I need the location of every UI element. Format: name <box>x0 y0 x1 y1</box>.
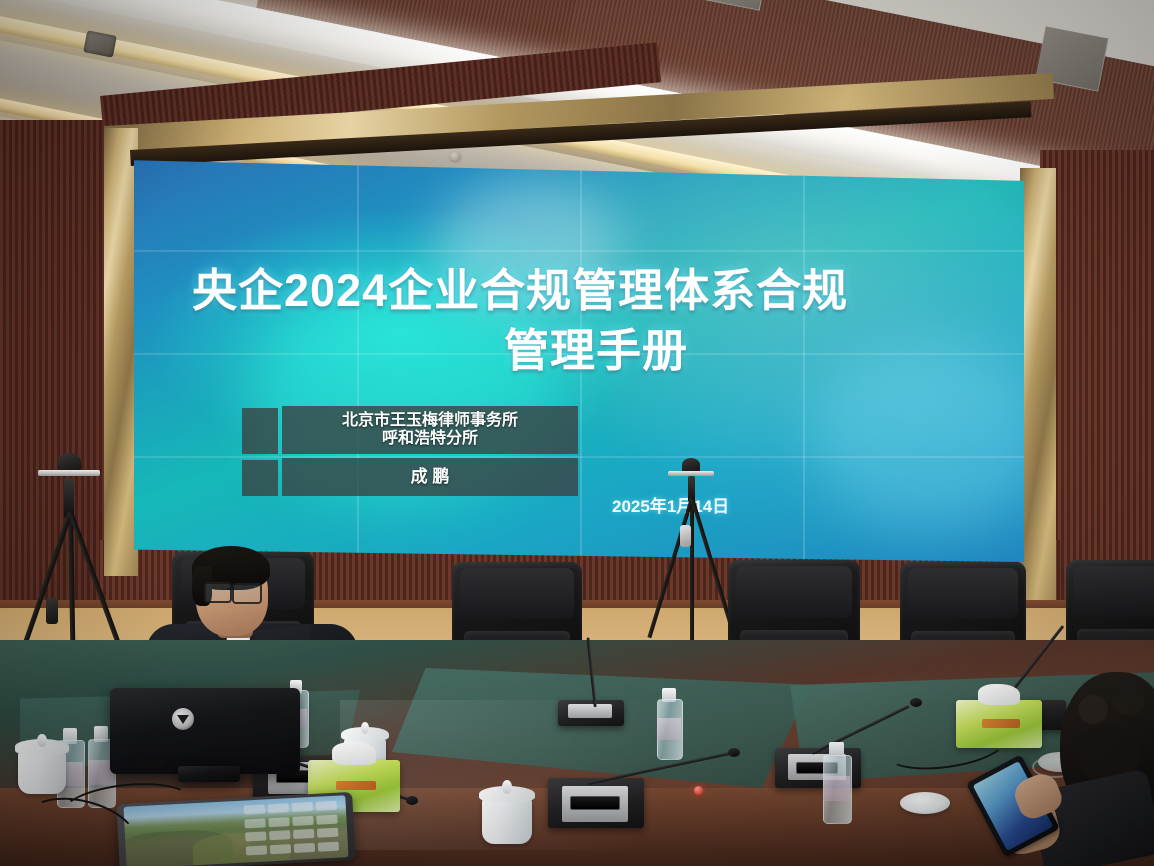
panel-seam-vertical <box>803 150 805 562</box>
slide-org-accent-bar <box>242 408 278 454</box>
conference-room-photo: 央企2024企业合规管理体系合规 管理手册 北京市王玉梅律师事务所 呼和浩特分所… <box>0 0 1154 866</box>
microphone-capsule <box>406 796 418 805</box>
presenter-glasses-right-lens <box>232 583 262 604</box>
ceiling-downlight-icon <box>450 152 461 161</box>
desktop-icon[interactable] <box>316 801 337 811</box>
tissue-sheet <box>332 742 376 765</box>
chair-headrest <box>736 566 852 618</box>
bottle-label <box>823 776 850 801</box>
slide-organization-badge: 北京市王玉梅律师事务所 呼和浩特分所 <box>282 406 578 454</box>
camera-icon <box>682 458 700 472</box>
camera-mount-plate <box>38 470 100 476</box>
presenter-glasses-bridge <box>227 588 234 590</box>
slide-title-line-1: 央企2024企业合规管理体系合规 <box>192 254 848 319</box>
slide-org-line-2: 呼和浩特分所 <box>382 430 478 448</box>
presenter-glasses-left-lens <box>204 582 232 603</box>
teacup-body <box>18 750 66 794</box>
panel-seam-horizontal <box>134 456 1024 458</box>
tripod-leg <box>690 498 694 650</box>
desktop-icon[interactable] <box>270 844 291 854</box>
monitor-rear-panel <box>110 688 300 774</box>
screen-frame-left <box>104 128 138 576</box>
teacup <box>482 782 532 844</box>
teacup-lid-knob <box>502 780 512 794</box>
teacup-lid-knob <box>361 722 369 734</box>
desktop-icon[interactable] <box>269 831 290 841</box>
desktop-icon[interactable] <box>246 845 267 855</box>
microphone-faceplate <box>568 704 612 718</box>
desktop-icon[interactable] <box>244 805 265 815</box>
teacup <box>18 736 66 794</box>
tissue-box-brand-label <box>336 781 376 790</box>
tripod-accessory <box>46 598 58 624</box>
microphone-status-led <box>694 786 703 795</box>
desktop-icon[interactable] <box>292 816 313 826</box>
saucer <box>900 792 950 814</box>
teacup-lid-knob <box>37 734 47 747</box>
chair-headrest <box>460 568 574 619</box>
slide-title-line-2: 管理手册 <box>504 314 688 379</box>
microphone-capsule <box>728 748 740 757</box>
slide-org-line-1: 北京市王玉梅律师事务所 <box>342 412 518 430</box>
desktop-icon[interactable] <box>294 843 315 853</box>
teacup-body <box>482 797 532 844</box>
desktop-icon[interactable] <box>268 817 289 827</box>
panel-seam-horizontal <box>134 250 1024 252</box>
slide-speaker-accent-bar <box>242 460 278 496</box>
desktop-icon[interactable] <box>317 828 338 838</box>
screen-frame-right <box>1020 168 1056 628</box>
desktop-icon[interactable] <box>316 815 337 825</box>
desktop-icon[interactable] <box>292 802 313 812</box>
microphone-capsule <box>910 698 922 707</box>
slide-speaker-name: 成 鹏 <box>411 467 450 486</box>
water-bottle <box>657 688 681 760</box>
camera-icon <box>57 453 81 471</box>
tissue-sheet <box>978 684 1019 705</box>
microphone-button <box>570 796 620 810</box>
water-bottle <box>823 742 850 824</box>
desktop-icon-grid[interactable] <box>244 801 340 857</box>
panel-seam-vertical <box>357 150 359 562</box>
led-video-wall: 央企2024企业合规管理体系合规 管理手册 北京市王玉梅律师事务所 呼和浩特分所… <box>134 150 1024 562</box>
tripod-accessory <box>680 525 691 547</box>
bottle-label <box>657 718 681 740</box>
slide-date: 2025年1月14日 <box>612 492 729 517</box>
slide-speaker-badge: 成 鹏 <box>282 458 578 496</box>
desktop-icon[interactable] <box>245 832 266 842</box>
chair-headrest <box>1073 566 1154 617</box>
monitor-stand <box>178 766 240 782</box>
screen-glow-cyan <box>814 340 1024 530</box>
desktop-icon[interactable] <box>318 842 339 852</box>
desktop-icon[interactable] <box>244 818 265 828</box>
monitor-brand-logo-icon <box>172 708 194 730</box>
desktop-icon[interactable] <box>293 829 314 839</box>
chair-headrest <box>908 568 1019 619</box>
desktop-icon[interactable] <box>268 803 289 813</box>
